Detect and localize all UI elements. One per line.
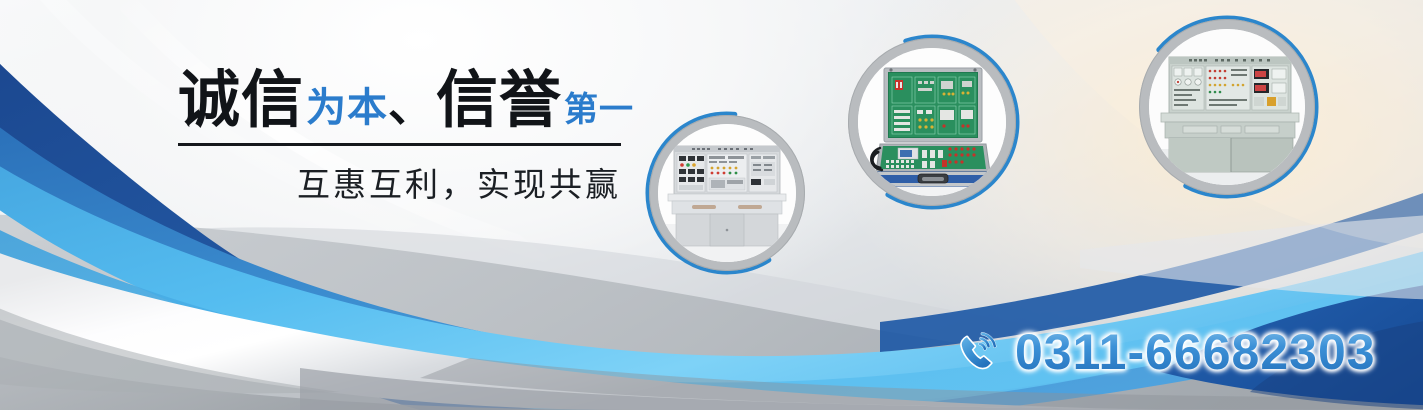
product-circle-portable-electronics-training-case bbox=[844, 34, 1020, 210]
headline-part-3: 信誉 bbox=[436, 70, 562, 132]
console-illustration bbox=[1149, 29, 1305, 185]
contact-phone[interactable]: 0311-66682303 bbox=[955, 327, 1376, 377]
headline-part-4: 第一 bbox=[564, 93, 634, 127]
circle-photo-3 bbox=[1149, 29, 1305, 185]
phone-icon bbox=[955, 329, 1001, 375]
product-circle-electrical-training-console bbox=[1135, 15, 1319, 199]
product-circle-electrical-training-workbench bbox=[645, 111, 809, 275]
circle-photo-1 bbox=[658, 124, 796, 262]
headline-part-1: 诚信 bbox=[178, 70, 304, 132]
headline-divider bbox=[178, 143, 621, 146]
training-case-illustration bbox=[858, 48, 1006, 196]
phone-number[interactable]: 0311-66682303 bbox=[1015, 327, 1376, 377]
workbench-illustration bbox=[658, 124, 796, 262]
promotional-banner: 诚信 为本 、 信誉 第一 互惠互利，实现共赢 bbox=[0, 0, 1423, 410]
headline-part-2: 为本 bbox=[306, 88, 388, 128]
headline: 诚信 为本 、 信誉 第一 bbox=[178, 70, 634, 132]
headline-punctuation: 、 bbox=[388, 82, 434, 128]
circle-photo-2 bbox=[858, 48, 1006, 196]
subline: 互惠互利，实现共赢 bbox=[178, 158, 621, 206]
